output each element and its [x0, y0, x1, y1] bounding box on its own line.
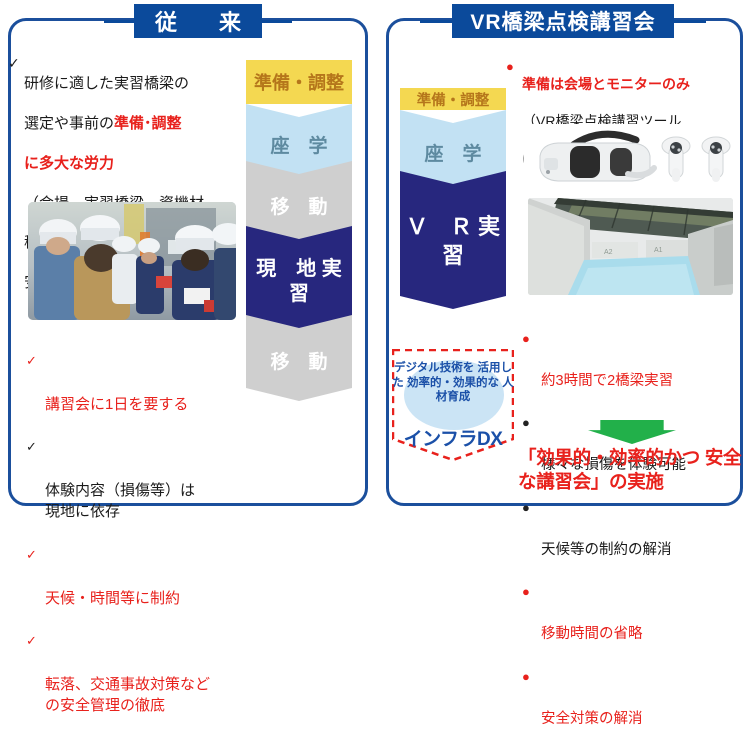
- dx-headline: インフラDX: [392, 424, 514, 451]
- list-item-label: 移動時間の省略: [541, 626, 643, 642]
- flow-step-label: 移 動: [270, 347, 327, 374]
- bullet-icon: ●: [522, 499, 530, 518]
- list-item: ● 約3時間で2橋梁実習: [522, 329, 744, 392]
- photo-bridge-underside: A2 A1: [528, 198, 733, 295]
- flow-step-vr-practice: Ｖ Ｒ 実 習: [400, 171, 506, 309]
- flow-traditional: 準備・調整 座 学 移 動 現 地 実 習 移 動: [246, 60, 352, 388]
- svg-text:A1: A1: [654, 247, 663, 254]
- list-item-label: 講習会に1日を要する: [45, 396, 188, 413]
- badge-rule-left-2: [258, 20, 292, 23]
- note-line-1: 研修に適した実習橋梁の: [24, 75, 189, 92]
- note-line-2-red: 準備･調整: [114, 115, 182, 132]
- bullet-icon: ●: [506, 58, 514, 75]
- list-item-label: 安全対策の解消: [541, 711, 643, 727]
- flow-vr: 準備・調整 座 学 Ｖ Ｒ 実 習: [400, 88, 506, 296]
- flow-step-preparation: 準備・調整: [246, 60, 352, 104]
- check-icon: ✓: [26, 352, 37, 370]
- bullet-icon: ●: [522, 414, 530, 433]
- flow-step-preparation: 準備・調整: [400, 88, 506, 110]
- flow-step-label: Ｖ Ｒ 実 習: [400, 213, 506, 270]
- traditional-checklist: ✓ 講習会に1日を要する ✓ 体験内容（損傷等）は 現地に依存 ✓ 天候・時間等…: [26, 330, 252, 739]
- flow-step-label: 移 動: [270, 192, 327, 219]
- flow-step-label: 座 学: [270, 131, 327, 158]
- list-item: ✓ 体験内容（損傷等）は 現地に依存: [26, 437, 252, 522]
- flow-step-field-practice: 現 地 実 習: [246, 226, 352, 328]
- check-icon: ✓: [26, 438, 37, 456]
- panel-title-vr: VR橋梁点検講習会: [452, 4, 674, 38]
- list-item: ✓ 天候・時間等に制約: [26, 545, 252, 609]
- flow-step-lecture: 座 学: [400, 110, 506, 184]
- list-item-label: 天候等の制約の解消: [541, 542, 672, 558]
- flow-step-label: 準備・調整: [417, 89, 490, 110]
- list-item-label: 転落、交通事故対策など の安全管理の徹底: [45, 676, 210, 714]
- infographic-root: 従 来 ✓研修に適した実習橋梁の 選定や事前の準備･調整 に多大な労力 （会場、…: [0, 0, 751, 525]
- flow-step-label: 準備・調整: [254, 69, 344, 95]
- svg-text:A2: A2: [604, 249, 613, 256]
- panel-title-traditional: 従 来: [134, 4, 262, 38]
- list-item: ● 安全対策の解消: [522, 667, 744, 730]
- flow-step-lecture: 座 学: [246, 104, 352, 174]
- list-item-label: 体験内容（損傷等）は 現地に依存: [45, 482, 195, 520]
- vr-checklist: ● 約3時間で2橋梁実習 ● 様々な損傷を体験可能 ● 天候等の制約の解消 ● …: [522, 308, 744, 751]
- badge-rule-right-2: [670, 20, 706, 23]
- photo-vr-headset-art: [524, 124, 740, 194]
- bullet-icon: ●: [522, 583, 530, 602]
- badge-rule-left-1: [104, 20, 138, 23]
- photo-bridge-underside-art: A2 A1: [528, 198, 733, 295]
- list-item-label: 天候・時間等に制約: [45, 590, 180, 607]
- conclusion-text: 「効果的・効率的かつ 安全な講習会」の実施: [518, 446, 746, 494]
- check-icon: ✓: [26, 632, 37, 650]
- list-item-label: 約3時間で2橋梁実習: [541, 373, 673, 389]
- vr-note-line-1: 準備は会場とモニターのみ: [522, 76, 690, 92]
- badge-rule-right-1: [420, 20, 456, 23]
- note-line-3-red: に多大な労力: [24, 155, 114, 172]
- bullet-icon: ●: [522, 330, 530, 349]
- bullet-icon: ●: [522, 668, 530, 687]
- list-item: ✓ 転落、交通事故対策など の安全管理の徹底: [26, 631, 252, 716]
- note-line-2-pre: 選定や事前の: [24, 115, 114, 132]
- check-icon: ✓: [26, 546, 37, 564]
- list-item: ● 移動時間の省略: [522, 582, 744, 645]
- check-icon: ✓: [8, 54, 20, 73]
- flow-step-label: 現 地 実 習: [246, 257, 352, 307]
- flow-step-label: 座 学: [424, 139, 481, 166]
- list-item: ✓ 講習会に1日を要する: [26, 351, 252, 415]
- photo-site-training-art: [28, 202, 236, 320]
- photo-site-training: [28, 202, 236, 320]
- dx-body-text: デジタル技術を 活用した 効率的・効果的な 人材育成: [392, 361, 514, 405]
- list-item: ● 天候等の制約の解消: [522, 498, 744, 561]
- photo-vr-headset: [524, 124, 740, 194]
